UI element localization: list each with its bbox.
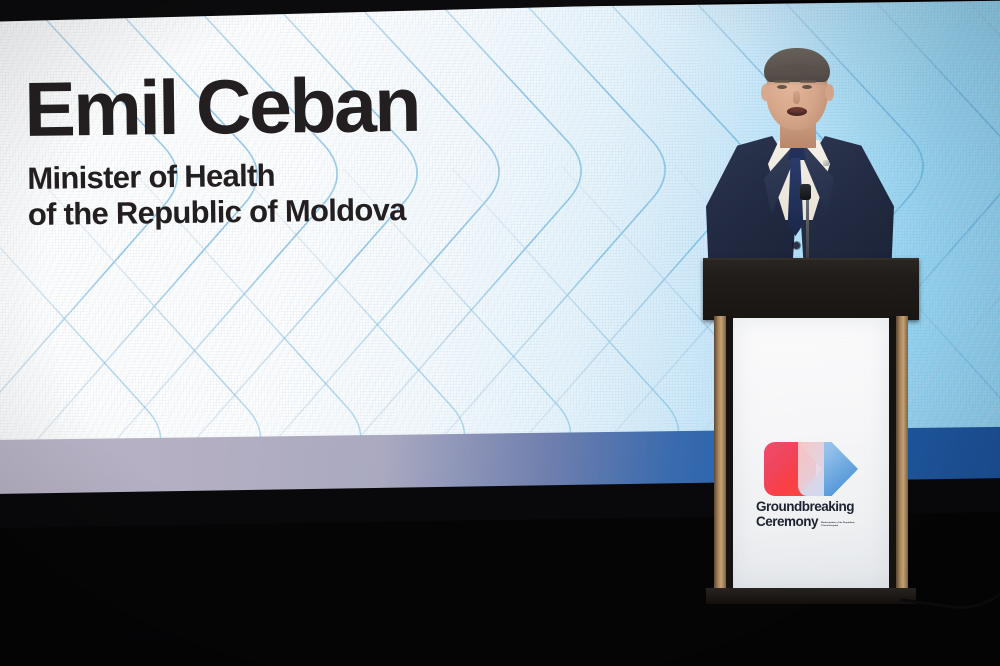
speaker-role-line-2: of the Republic of Moldova xyxy=(28,192,421,233)
speaker-role-line-1: Minister of Health xyxy=(27,156,420,197)
podium: Groundbreaking CeremonyModernization of … xyxy=(700,254,922,600)
lapel-pin-icon xyxy=(823,160,829,166)
speaker-figure xyxy=(694,44,904,284)
logo-micro-text: Modernization of the Republican Clinical… xyxy=(821,522,859,528)
microphone-icon xyxy=(800,184,811,200)
podium-top-slab xyxy=(703,258,919,320)
podium-front-panel: Groundbreaking CeremonyModernization of … xyxy=(733,318,889,590)
logo-gradient-blend xyxy=(798,442,824,496)
event-logo-text: Groundbreaking CeremonyModernization of … xyxy=(756,500,868,530)
eyebrow-left xyxy=(774,80,790,83)
jacket-button xyxy=(793,242,800,249)
nose xyxy=(793,91,800,104)
logo-title-line-2: Ceremony xyxy=(756,515,818,529)
mouth xyxy=(787,107,807,116)
podium-rail-left xyxy=(714,316,726,592)
eyebrow-right xyxy=(800,80,816,83)
hair xyxy=(764,48,830,82)
podium-frame-left xyxy=(726,316,733,592)
event-logo: Groundbreaking CeremonyModernization of … xyxy=(756,440,868,518)
logo-title-line-1: Groundbreaking xyxy=(756,500,868,514)
podium-base xyxy=(706,588,916,604)
ear-left xyxy=(761,84,770,101)
ear-right xyxy=(825,84,834,101)
eye-right xyxy=(802,85,812,89)
stage-photo: Emil Ceban Minister of Health of the Rep… xyxy=(0,0,1000,666)
chevron-arrow-logo-icon xyxy=(764,440,860,498)
speaker-role: Minister of Health of the Republic of Mo… xyxy=(27,156,420,234)
speaker-title-block: Emil Ceban Minister of Health of the Rep… xyxy=(24,69,420,234)
podium-rail-right xyxy=(896,316,908,592)
podium-frame-right xyxy=(889,316,896,592)
eye-left xyxy=(777,85,787,89)
page-title: Emil Ceban xyxy=(24,69,419,147)
